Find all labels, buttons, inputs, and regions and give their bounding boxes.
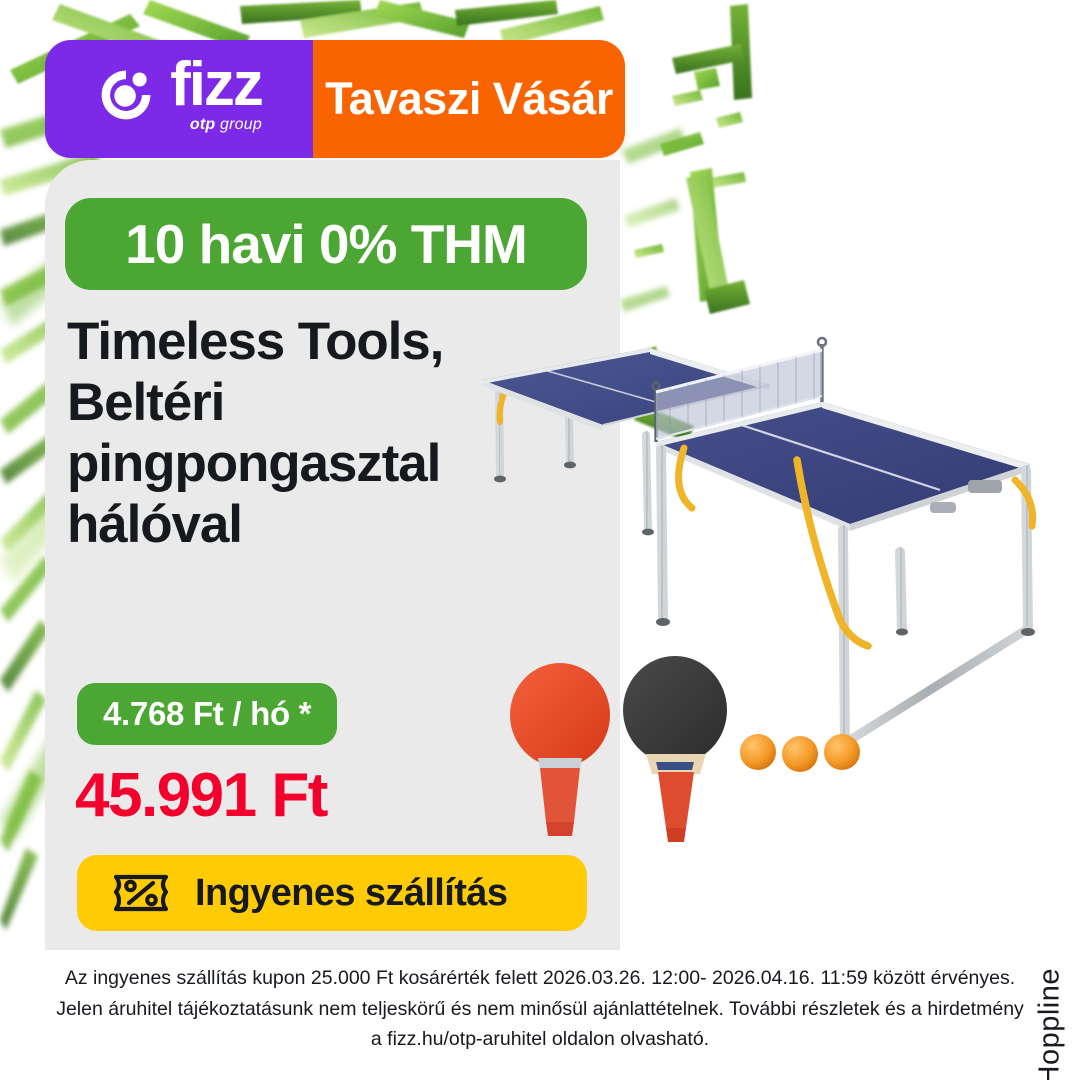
- legal-line-2: Jelen áruhitel tájékoztatásunk nem telje…: [34, 994, 1046, 1024]
- paddle-black: [623, 656, 727, 842]
- full-price: 45.991 Ft: [75, 760, 327, 831]
- ping-pong-balls: [740, 734, 860, 772]
- monthly-price-badge: 4.768 Ft / hó *: [77, 683, 337, 745]
- brand-header-pill: fizz otp group Tavaszi Vásár: [45, 40, 625, 158]
- monthly-price-label: 4.768 Ft / hó *: [103, 695, 311, 733]
- coupon-percent-icon: [111, 872, 171, 914]
- legal-line-3: a fizz.hu/otp-aruhitel oldalon olvasható…: [34, 1024, 1046, 1054]
- ad-creative: fizz otp group Tavaszi Vásár 10 havi 0% …: [0, 0, 1080, 1080]
- otp-group-label: otp group: [190, 116, 262, 134]
- legal-line-1: Az ingyenes szállítás kupon 25.000 Ft ko…: [34, 963, 1046, 993]
- financing-label: 10 havi 0% THM: [125, 212, 527, 276]
- paddle-red: [510, 663, 610, 836]
- campaign-block: Tavaszi Vásár: [313, 40, 625, 158]
- otp-label: otp: [190, 116, 215, 133]
- pingpong-table-illustration: [470, 330, 1080, 860]
- brand-block: fizz otp group: [45, 40, 313, 158]
- financing-badge: 10 havi 0% THM: [65, 198, 587, 290]
- product-title: Timeless Tools, Beltéri pingpongasztal h…: [67, 312, 537, 556]
- legal-disclaimer: Az ingyenes szállítás kupon 25.000 Ft ko…: [0, 963, 1080, 1054]
- free-shipping-label: Ingyenes szállítás: [195, 872, 507, 915]
- free-shipping-badge: Ingyenes szállítás: [77, 855, 587, 931]
- product-image: [470, 330, 1080, 860]
- brand-wordmark: fizz: [170, 56, 262, 113]
- group-label: group: [220, 116, 262, 133]
- campaign-title: Tavaszi Vásár: [325, 73, 613, 125]
- fizz-circle-logo-icon: [96, 65, 156, 125]
